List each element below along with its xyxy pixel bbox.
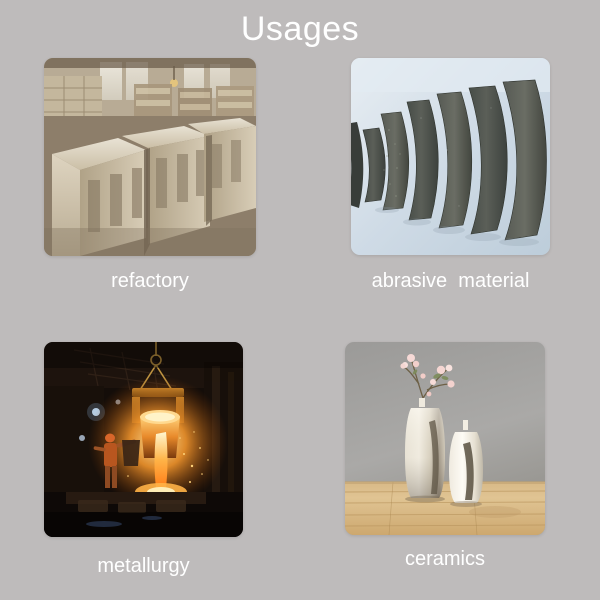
caption-abrasive-material: abrasive material	[341, 269, 560, 293]
refractory-bricks-photo[interactable]	[44, 58, 256, 256]
caption-ceramics: ceramics	[345, 547, 545, 571]
usages-page: Usages	[0, 0, 600, 600]
caption-refactory: refactory	[44, 269, 256, 293]
ceramic-vases-photo[interactable]	[345, 342, 545, 535]
caption-metallurgy: metallurgy	[44, 554, 243, 578]
molten-metal-pour-photo[interactable]	[44, 342, 243, 537]
page-title: Usages	[0, 8, 600, 50]
abrasive-segments-photo[interactable]	[351, 58, 550, 255]
